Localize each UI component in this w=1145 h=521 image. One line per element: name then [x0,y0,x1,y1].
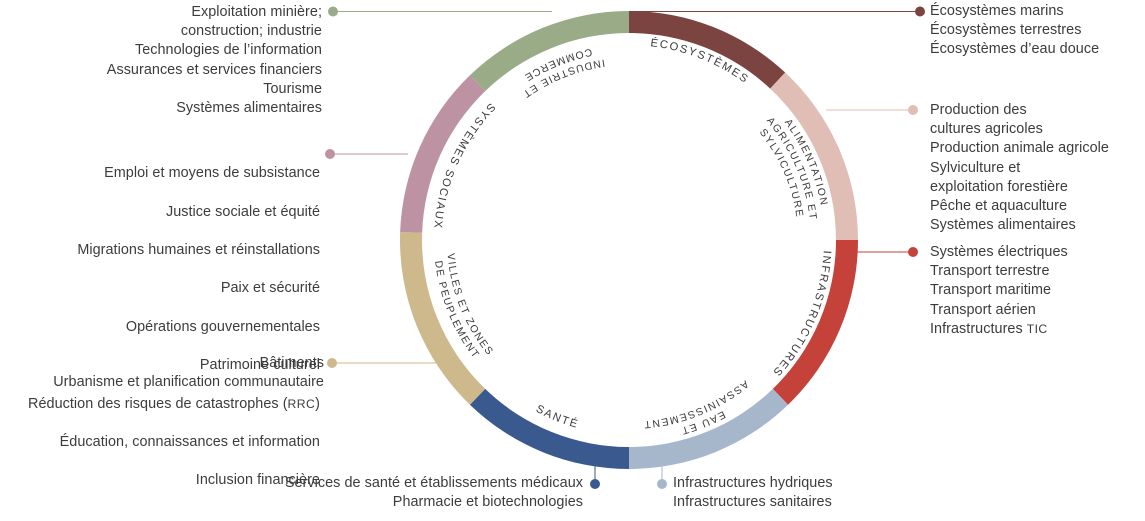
callout-eau: Infrastructures hydriques Infrastructure… [673,474,933,512]
callout-alimentation: Production des cultures agricoles Produc… [930,101,1145,235]
ring-segments [400,11,858,469]
callout-sociaux-line-7: Réduction des risques de catastrophes (R… [0,395,320,414]
callout-systemes-sociaux: Emploi et moyens de subsistance Justice … [0,145,320,510]
callout-sociaux-line-1: Emploi et moyens de subsistance [0,164,320,183]
dot-eau [657,479,667,489]
callout-sociaux-line-5: Opérations gouvernementales [0,318,320,337]
dot-alimentation [908,105,918,115]
callout-ecosystemes: Écosystèmes marins Écosystèmes terrestre… [930,2,1145,60]
callout-infrastructures-abbr: TIC [1027,322,1048,336]
dot-industrie [328,7,338,17]
callout-sociaux-line-8: Éducation, connaissances et information [0,433,320,452]
segment-sante[interactable] [470,389,629,469]
callout-sociaux-line-4: Paix et sécurité [0,279,320,298]
dot-infrastructures [908,247,918,257]
dot-sante [590,479,600,489]
segment-ecosystemes[interactable] [629,11,785,89]
callout-villes: Bâtiments Urbanisme et planification com… [0,354,324,392]
callout-industrie: Exploitation minière; construction; indu… [2,3,322,118]
dot-villes [327,358,337,368]
callout-sociaux-line-7-abbr: RRC [288,397,316,411]
dot-ecosystemes [915,7,925,17]
segment-label-sante: SANTÉ [534,403,581,431]
callout-sante: Services de santé et établissements médi… [233,474,583,512]
diagram-canvas: ÉCOSYSTÈMESALIMENTATIONAGRICULTURE ETSYL… [0,0,1145,521]
callout-sociaux-line-2: Justice sociale et équité [0,203,320,222]
callout-sociaux-line-7-post: ) [315,396,320,412]
callout-sociaux-line-7-pre: Réduction des risques de catastrophes ( [28,396,288,412]
ring-segment-labels: ÉCOSYSTÈMESALIMENTATIONAGRICULTURE ETSYL… [431,36,832,436]
callout-infrastructures: Systèmes électriques Transport terrestre… [930,243,1145,339]
callout-sociaux-line-3: Migrations humaines et réinstallations [0,241,320,260]
dot-sociaux [325,149,335,159]
